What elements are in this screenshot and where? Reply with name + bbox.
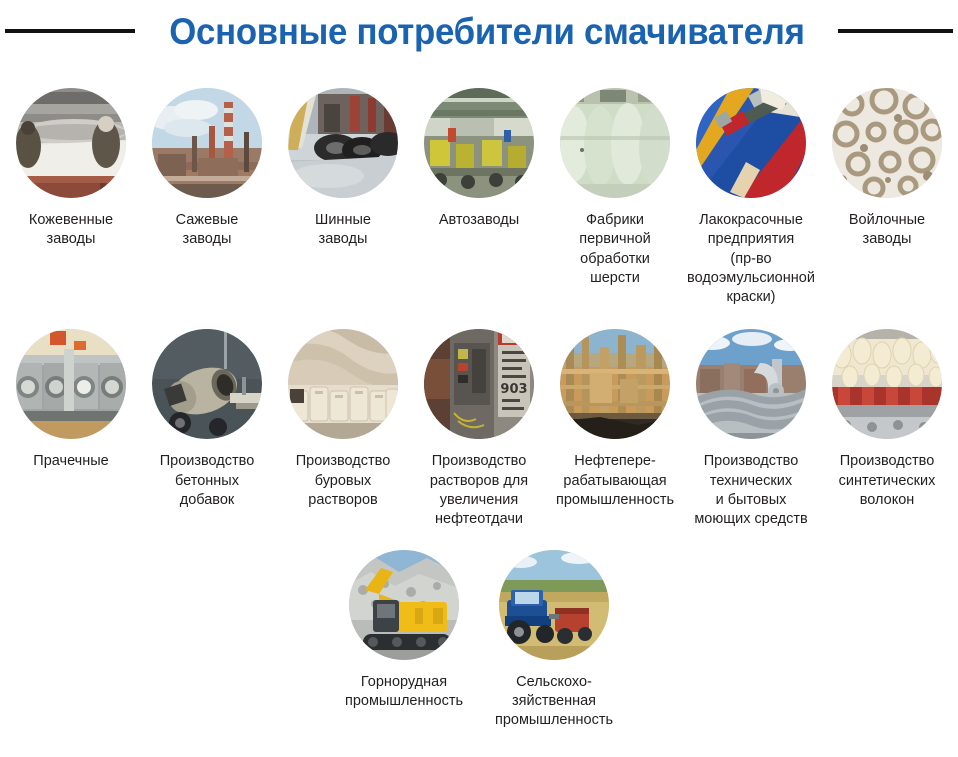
consumer-card-label: Войлочные заводы	[819, 211, 955, 250]
consumer-card-eor-fluids[interactable]: 903 Производство растворов для увеличени…	[411, 329, 547, 529]
consumer-row-3: Горнорудная промышленность	[4, 550, 954, 731]
consumer-row-1: Кожевенные заводы	[4, 88, 954, 307]
consumer-card-synthetic-fibers[interactable]: Производство синтетических волокон	[819, 329, 955, 510]
consumer-card-tire-plant[interactable]: Шинные заводы	[275, 88, 411, 250]
carbon-black-plant-smokestacks-photo	[152, 88, 262, 198]
consumer-card-wool-processing[interactable]: Фабрики первичной обработки шерсти	[547, 88, 683, 288]
consumer-grid: Кожевенные заводы	[0, 88, 958, 730]
consumer-card-paint-enterprise[interactable]: Лакокрасочные предприятия (пр-во водоэму…	[683, 88, 819, 307]
consumer-card-label: Фабрики первичной обработки шерсти	[547, 211, 683, 288]
wool-processing-rollers-photo	[560, 88, 670, 198]
consumer-card-label: Кожевенные заводы	[3, 211, 139, 250]
chemical-plant-pipes-photo	[696, 329, 806, 439]
consumer-card-label: Сельскохо- зяйственная промышленность	[479, 673, 629, 731]
consumer-card-label: Производство бетонных добавок	[139, 452, 275, 510]
consumer-card-label: Шинные заводы	[275, 211, 411, 250]
svg-text:903: 903	[500, 382, 527, 397]
laundromat-washing-machines-photo	[16, 329, 126, 439]
consumer-card-auto-plant[interactable]: Автозаводы	[411, 88, 547, 230]
consumer-card-agriculture[interactable]: Сельскохо- зяйственная промышленность	[479, 550, 629, 731]
tractor-in-field-photo	[499, 550, 609, 660]
consumer-card-detergents[interactable]: Производство технических и бытовых моющи…	[683, 329, 819, 529]
consumer-row-2: Прачечные	[4, 329, 954, 529]
consumer-card-drilling-fluids[interactable]: Производство буровых растворов	[275, 329, 411, 510]
consumer-card-label: Прачечные	[3, 452, 139, 471]
consumer-card-oil-refining[interactable]: Нефтепере- рабатывающая промышленность	[547, 329, 683, 510]
consumer-card-laundry[interactable]: Прачечные	[3, 329, 139, 471]
tire-factory-production-line-photo	[288, 88, 398, 198]
consumer-card-carbon-black[interactable]: Сажевые заводы	[139, 88, 275, 250]
title-rule-left-icon	[5, 29, 135, 33]
consumer-card-label: Производство технических и бытовых моющи…	[683, 452, 819, 529]
consumer-card-label: Лакокрасочные предприятия (пр-во водоэму…	[683, 211, 819, 307]
leather-tannery-machine-photo	[16, 88, 126, 198]
consumer-card-concrete-additives[interactable]: Производство бетонных добавок	[139, 329, 275, 510]
mining-excavator-photo	[349, 550, 459, 660]
page-header: Основные потребители смачивателя	[0, 0, 958, 62]
consumer-card-label: Производство буровых растворов	[275, 452, 411, 510]
car-assembly-plant-photo	[424, 88, 534, 198]
page-title: Основные потребители смачивателя	[169, 13, 804, 50]
felt-rings-products-photo	[832, 88, 942, 198]
consumer-card-label: Нефтепере- рабатывающая промышленность	[547, 452, 683, 510]
title-rule-right-icon	[838, 29, 953, 33]
consumer-card-mining[interactable]: Горнорудная промышленность	[329, 550, 479, 712]
consumer-card-felt-plant[interactable]: Войлочные заводы	[819, 88, 955, 250]
consumer-card-leather-tannery[interactable]: Кожевенные заводы	[3, 88, 139, 250]
consumer-card-label: Горнорудная промышленность	[329, 673, 479, 712]
consumer-card-label: Производство синтетических волокон	[819, 452, 955, 510]
concrete-mixer-photo	[152, 329, 262, 439]
paint-brushes-and-paint-photo	[696, 88, 806, 198]
consumer-card-label: Сажевые заводы	[139, 211, 275, 250]
synthetic-fiber-spinning-machine-photo	[832, 329, 942, 439]
oil-refinery-photo	[560, 329, 670, 439]
consumer-card-label: Автозаводы	[411, 211, 547, 230]
drilling-mud-bags-warehouse-photo	[288, 329, 398, 439]
oilfield-control-panel-photo: 903	[424, 329, 534, 439]
consumer-card-label: Производство растворов для увеличения не…	[411, 452, 547, 529]
